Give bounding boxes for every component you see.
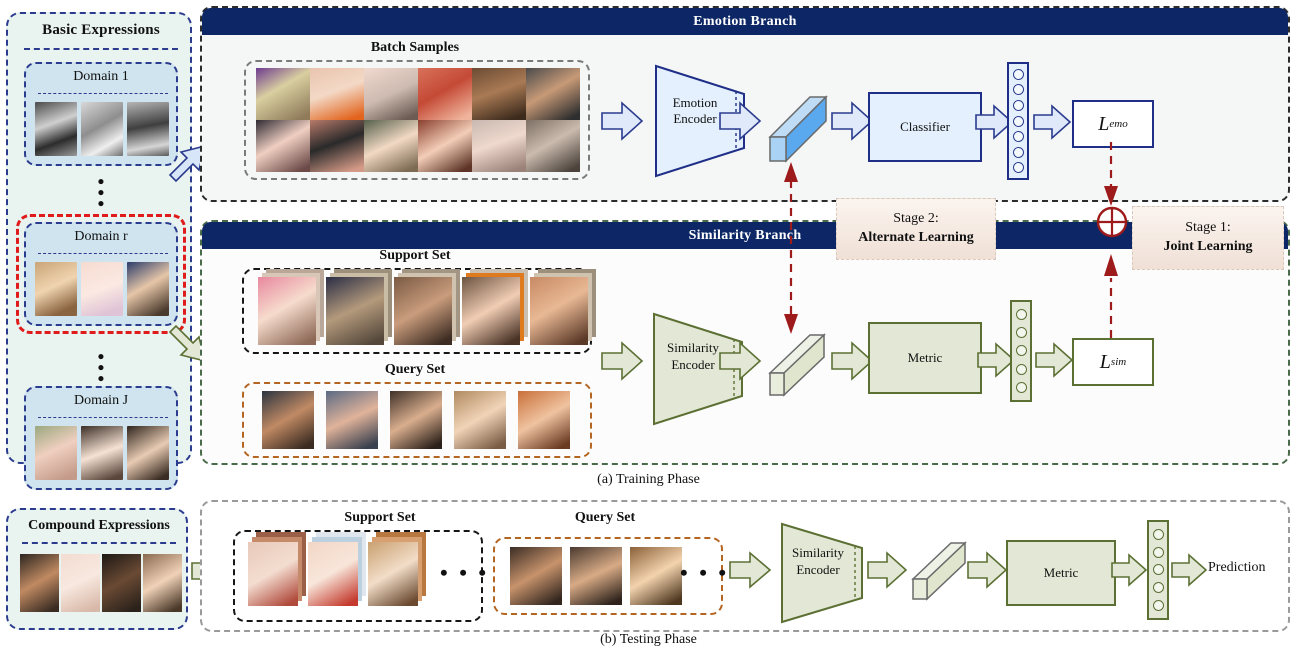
face-thumbnail (364, 120, 418, 172)
neuron-dot (1016, 327, 1027, 338)
emotion-loss-box: Lemo (1072, 100, 1154, 148)
arrow-sets-to-sim-encoder (600, 340, 644, 382)
domain-thumbnails-r (35, 262, 171, 316)
face-thumbnail (61, 554, 100, 612)
emotion-loss-to-sum-arrow (1098, 142, 1124, 208)
emotion-branch-header: Emotion Branch (202, 8, 1288, 35)
face-thumbnail (310, 120, 364, 172)
domain-label-r: Domain r (26, 229, 176, 245)
neuron-dot (1153, 529, 1164, 540)
emotion-logit-vector (1007, 62, 1029, 180)
face-thumbnail-stack (308, 542, 358, 606)
testing-support-row (248, 542, 418, 606)
face-thumbnail (262, 391, 314, 449)
arrow-feature-to-test-metric (966, 550, 1008, 590)
batch-samples-row-2 (256, 120, 580, 172)
compound-expressions-title: Compound Expressions (8, 518, 190, 534)
face-thumbnail-stack (530, 277, 588, 345)
stage-2-line2: Alternate Learning (858, 230, 973, 245)
face-thumbnail-stack (258, 277, 316, 345)
neuron-dot (1013, 131, 1024, 142)
testing-encoder-line1: Similarity (792, 545, 844, 560)
face-thumbnail (518, 391, 570, 449)
arrow-logits-to-loss (1032, 103, 1072, 141)
face-thumbnail (364, 68, 418, 120)
neuron-dot (1016, 364, 1027, 375)
face-thumbnail (418, 120, 472, 172)
caption-training-phase: (a) Training Phase (0, 472, 1297, 488)
face-thumbnail (630, 547, 682, 605)
face-thumbnail (526, 120, 580, 172)
face-thumbnail-stack (394, 277, 452, 345)
emotion-loss-subscript: emo (1109, 118, 1127, 130)
emotion-loss-symbol: L (1098, 113, 1109, 136)
arrow-sim-encoder-to-feature (718, 340, 762, 382)
prediction-label: Prediction (1208, 560, 1292, 576)
similarity-loss-to-sum-arrow (1098, 252, 1124, 338)
arrow-scores-to-loss (1034, 341, 1074, 379)
similarity-score-vector (1010, 300, 1032, 402)
query-set-row (262, 391, 570, 449)
neuron-dot (1153, 564, 1164, 575)
face-thumbnail (390, 391, 442, 449)
testing-encoder-line2: Encoder (796, 562, 839, 577)
face-thumbnail (454, 391, 506, 449)
basic-expressions-title: Basic Expressions (8, 22, 194, 39)
basic-expressions-panel: Basic Expressions Domain 1 ••• Domain r … (6, 12, 192, 464)
basic-expressions-divider (24, 48, 178, 50)
face-thumbnail (35, 262, 77, 316)
testing-query-row (510, 547, 682, 605)
neuron-dot (1013, 162, 1024, 173)
compound-thumbnails (20, 554, 182, 612)
neuron-dot (1013, 100, 1024, 111)
domain-box-r[interactable]: Domain r (24, 222, 178, 326)
face-thumbnail-stack (248, 542, 298, 606)
stage-2-callout: Stage 2: Alternate Learning (836, 198, 996, 260)
arrow-batch-to-encoder (600, 100, 644, 142)
face-thumbnail (510, 547, 562, 605)
face-thumbnail (256, 120, 310, 172)
testing-support-set-label: Support Set (290, 510, 470, 526)
domain-divider-1 (38, 93, 168, 94)
neuron-dot (1016, 309, 1027, 320)
face-thumbnail (418, 68, 472, 120)
circled-plus-icon (1096, 206, 1128, 238)
neuron-dot (1016, 345, 1027, 356)
face-thumbnail (102, 554, 141, 612)
compound-expressions-panel: Compound Expressions (6, 508, 188, 630)
testing-metric-block[interactable]: Metric (1006, 540, 1116, 606)
stage-1-line1: Stage 1: (1185, 220, 1231, 235)
metric-block[interactable]: Metric (868, 322, 982, 394)
face-thumbnail (526, 68, 580, 120)
classifier-label: Classifier (900, 120, 950, 135)
similarity-encoder-line2: Encoder (671, 357, 714, 372)
compound-expressions-divider (22, 542, 176, 544)
face-thumbnail (81, 262, 123, 316)
query-set-ellipsis: • • • (680, 560, 729, 586)
face-thumbnail-stack (462, 277, 520, 345)
neuron-dot (1016, 382, 1027, 393)
query-set-label: Query Set (300, 362, 530, 378)
stage-1-line2: Joint Learning (1163, 239, 1252, 254)
face-thumbnail (472, 68, 526, 120)
domain-label-1: Domain 1 (26, 69, 176, 85)
batch-samples-label: Batch Samples (300, 40, 530, 56)
domain-divider-j (38, 417, 168, 418)
arrow-scores-to-prediction (1170, 552, 1208, 588)
support-set-label: Support Set (300, 248, 530, 264)
support-set-row (258, 277, 588, 345)
stage-1-callout: Stage 1: Joint Learning (1132, 206, 1284, 270)
face-thumbnail (326, 391, 378, 449)
emotion-feature-vector-icon (760, 85, 832, 165)
stage-2-line1: Stage 2: (893, 211, 939, 226)
neuron-dot (1013, 69, 1024, 80)
neuron-dot (1153, 600, 1164, 611)
caption-testing-phase: (b) Testing Phase (0, 632, 1297, 648)
face-thumbnail (127, 262, 169, 316)
domain-divider-r (38, 253, 168, 254)
metric-label: Metric (908, 351, 943, 366)
emotion-branch-header-label: Emotion Branch (202, 8, 1288, 35)
similarity-loss-symbol: L (1100, 351, 1111, 374)
classifier-block[interactable]: Classifier (868, 92, 982, 162)
arrow-encoder-to-feature (718, 100, 762, 142)
similarity-loss-box: Lsim (1072, 338, 1154, 386)
neuron-dot (1153, 547, 1164, 558)
face-thumbnail (35, 102, 77, 156)
alternate-learning-arrow (776, 158, 806, 338)
domain-box-1[interactable]: Domain 1 (24, 62, 178, 166)
emotion-encoder-line2: Encoder (673, 111, 716, 126)
testing-metric-label: Metric (1044, 566, 1079, 581)
face-thumbnail-stack (326, 277, 384, 345)
face-thumbnail-stack (368, 542, 418, 606)
face-thumbnail (81, 102, 123, 156)
arrow-query-to-test-encoder (728, 550, 772, 590)
neuron-dot (1013, 116, 1024, 127)
emotion-encoder-line1: Emotion (673, 95, 718, 110)
similarity-encoder-line1: Similarity (667, 340, 719, 355)
testing-encoder-label: Similarity Encoder (776, 545, 860, 579)
testing-score-vector (1147, 520, 1169, 620)
domain-label-j: Domain J (26, 393, 176, 409)
face-thumbnail (143, 554, 182, 612)
neuron-dot (1153, 582, 1164, 593)
face-thumbnail (310, 68, 364, 120)
domain-thumbnails-1 (35, 102, 171, 156)
face-thumbnail (472, 120, 526, 172)
testing-feature-vector-icon (905, 535, 971, 605)
neuron-dot (1013, 147, 1024, 158)
face-thumbnail (127, 102, 169, 156)
arrow-test-encoder-to-feature (866, 550, 908, 590)
testing-query-set-label: Query Set (530, 510, 680, 526)
neuron-dot (1013, 84, 1024, 95)
face-thumbnail (256, 68, 310, 120)
batch-samples-row-1 (256, 68, 580, 120)
arrow-metric-to-test-scores (1110, 552, 1148, 588)
support-set-ellipsis: • • • (440, 560, 489, 586)
face-thumbnail (20, 554, 59, 612)
similarity-loss-subscript: sim (1111, 356, 1126, 368)
face-thumbnail (570, 547, 622, 605)
